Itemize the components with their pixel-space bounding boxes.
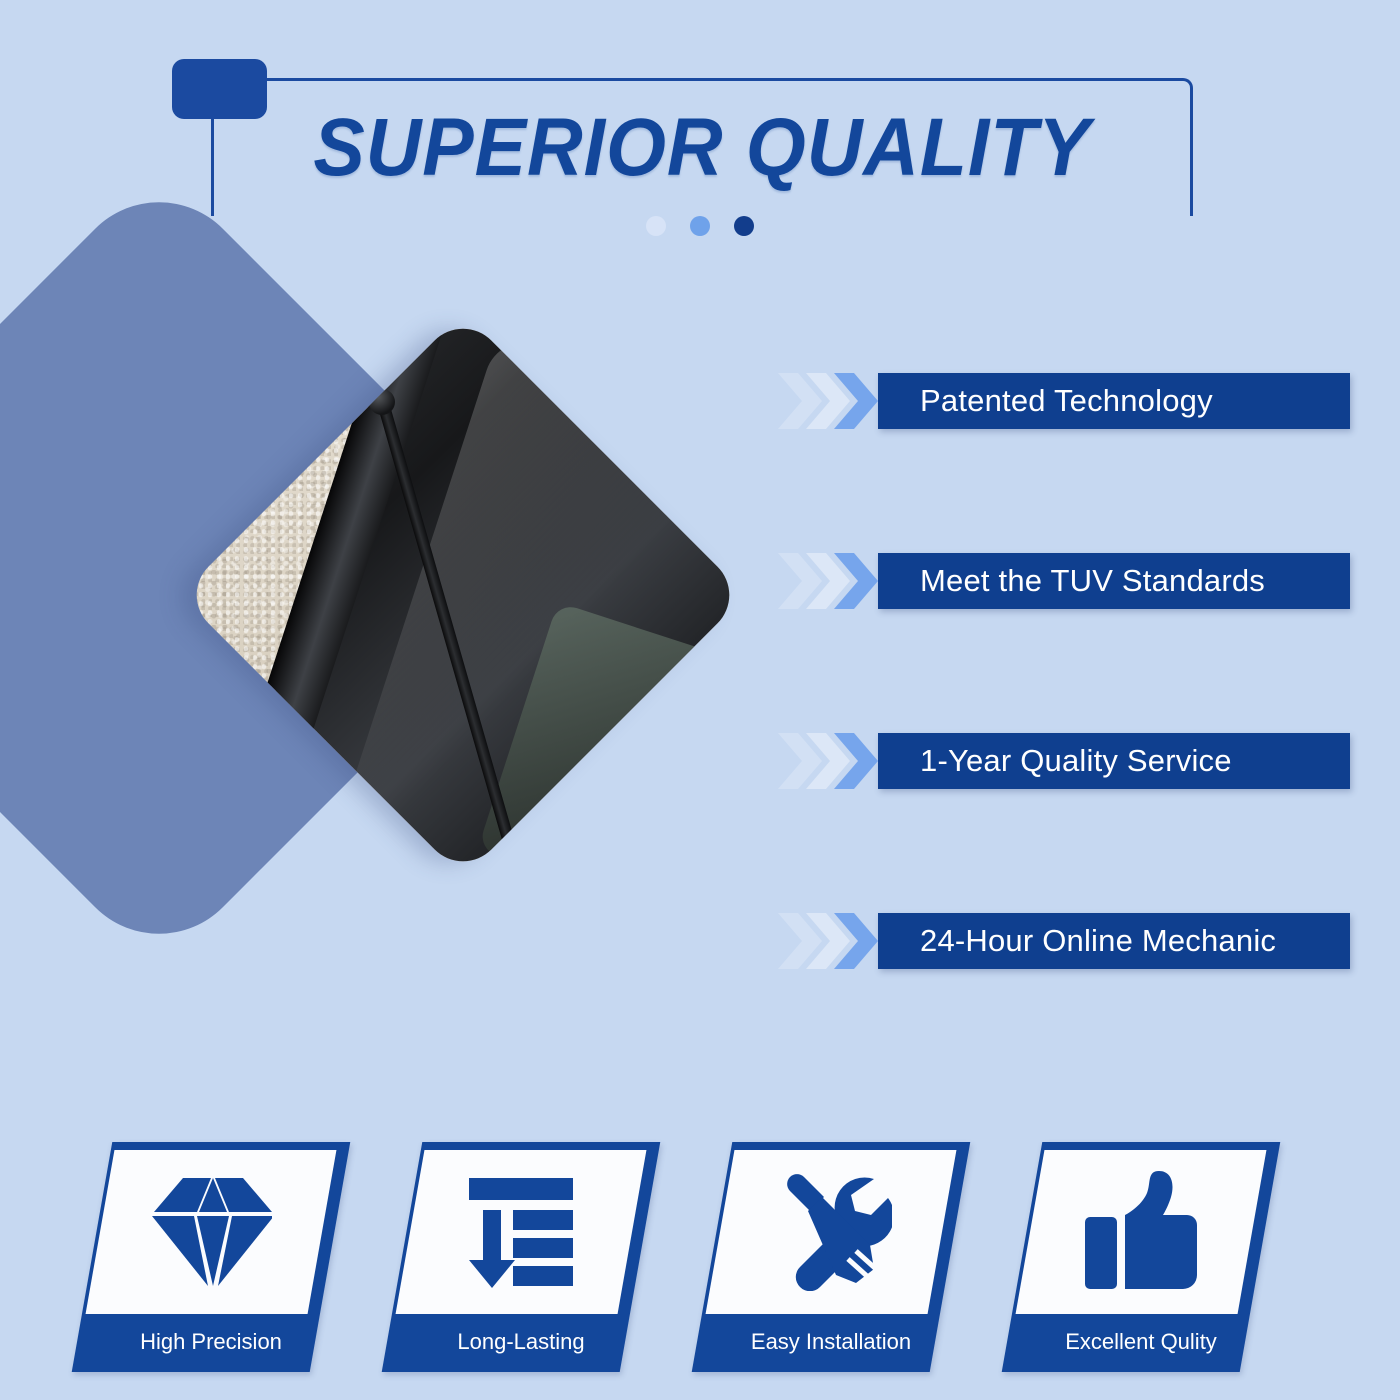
feature-label-2: Meet the TUV Standards <box>878 553 1350 609</box>
diamond-icon <box>92 1150 330 1314</box>
badge-long-lasting[interactable]: Long-Lasting <box>402 1142 640 1372</box>
double-chevron-right-icon <box>778 913 878 969</box>
badge-label: Easy Installation <box>712 1320 950 1364</box>
sort-descending-arrow-icon <box>402 1150 640 1314</box>
dot-3 <box>734 216 754 236</box>
feature-row-4: 24-Hour Online Mechanic <box>778 913 1350 969</box>
badge-label: Excellent Qulity <box>1022 1320 1260 1364</box>
feature-row-3: 1-Year Quality Service <box>778 733 1350 789</box>
dot-1 <box>646 216 666 236</box>
badge-label: Long-Lasting <box>402 1320 640 1364</box>
page-title: SUPERIOR QUALITY <box>243 93 1160 203</box>
dot-2 <box>690 216 710 236</box>
feature-label-1: Patented Technology <box>878 373 1350 429</box>
badge-excellent-quality[interactable]: Excellent Qulity <box>1022 1142 1260 1372</box>
badge-row: High Precision Long-Lasting <box>92 1142 1342 1372</box>
wrench-screwdriver-icon <box>712 1150 950 1314</box>
double-chevron-right-icon <box>778 553 878 609</box>
double-chevron-right-icon <box>778 373 878 429</box>
feature-row-2: Meet the TUV Standards <box>778 553 1350 609</box>
badge-easy-installation[interactable]: Easy Installation <box>712 1142 950 1372</box>
feature-label-4: 24-Hour Online Mechanic <box>878 913 1350 969</box>
infographic-canvas: SUPERIOR QUALITY <box>0 0 1400 1400</box>
feature-row-1: Patented Technology <box>778 373 1350 429</box>
badge-high-precision[interactable]: High Precision <box>92 1142 330 1372</box>
badge-label: High Precision <box>92 1320 330 1364</box>
double-chevron-right-icon <box>778 733 878 789</box>
feature-label-3: 1-Year Quality Service <box>878 733 1350 789</box>
thumbs-up-icon <box>1022 1150 1260 1314</box>
